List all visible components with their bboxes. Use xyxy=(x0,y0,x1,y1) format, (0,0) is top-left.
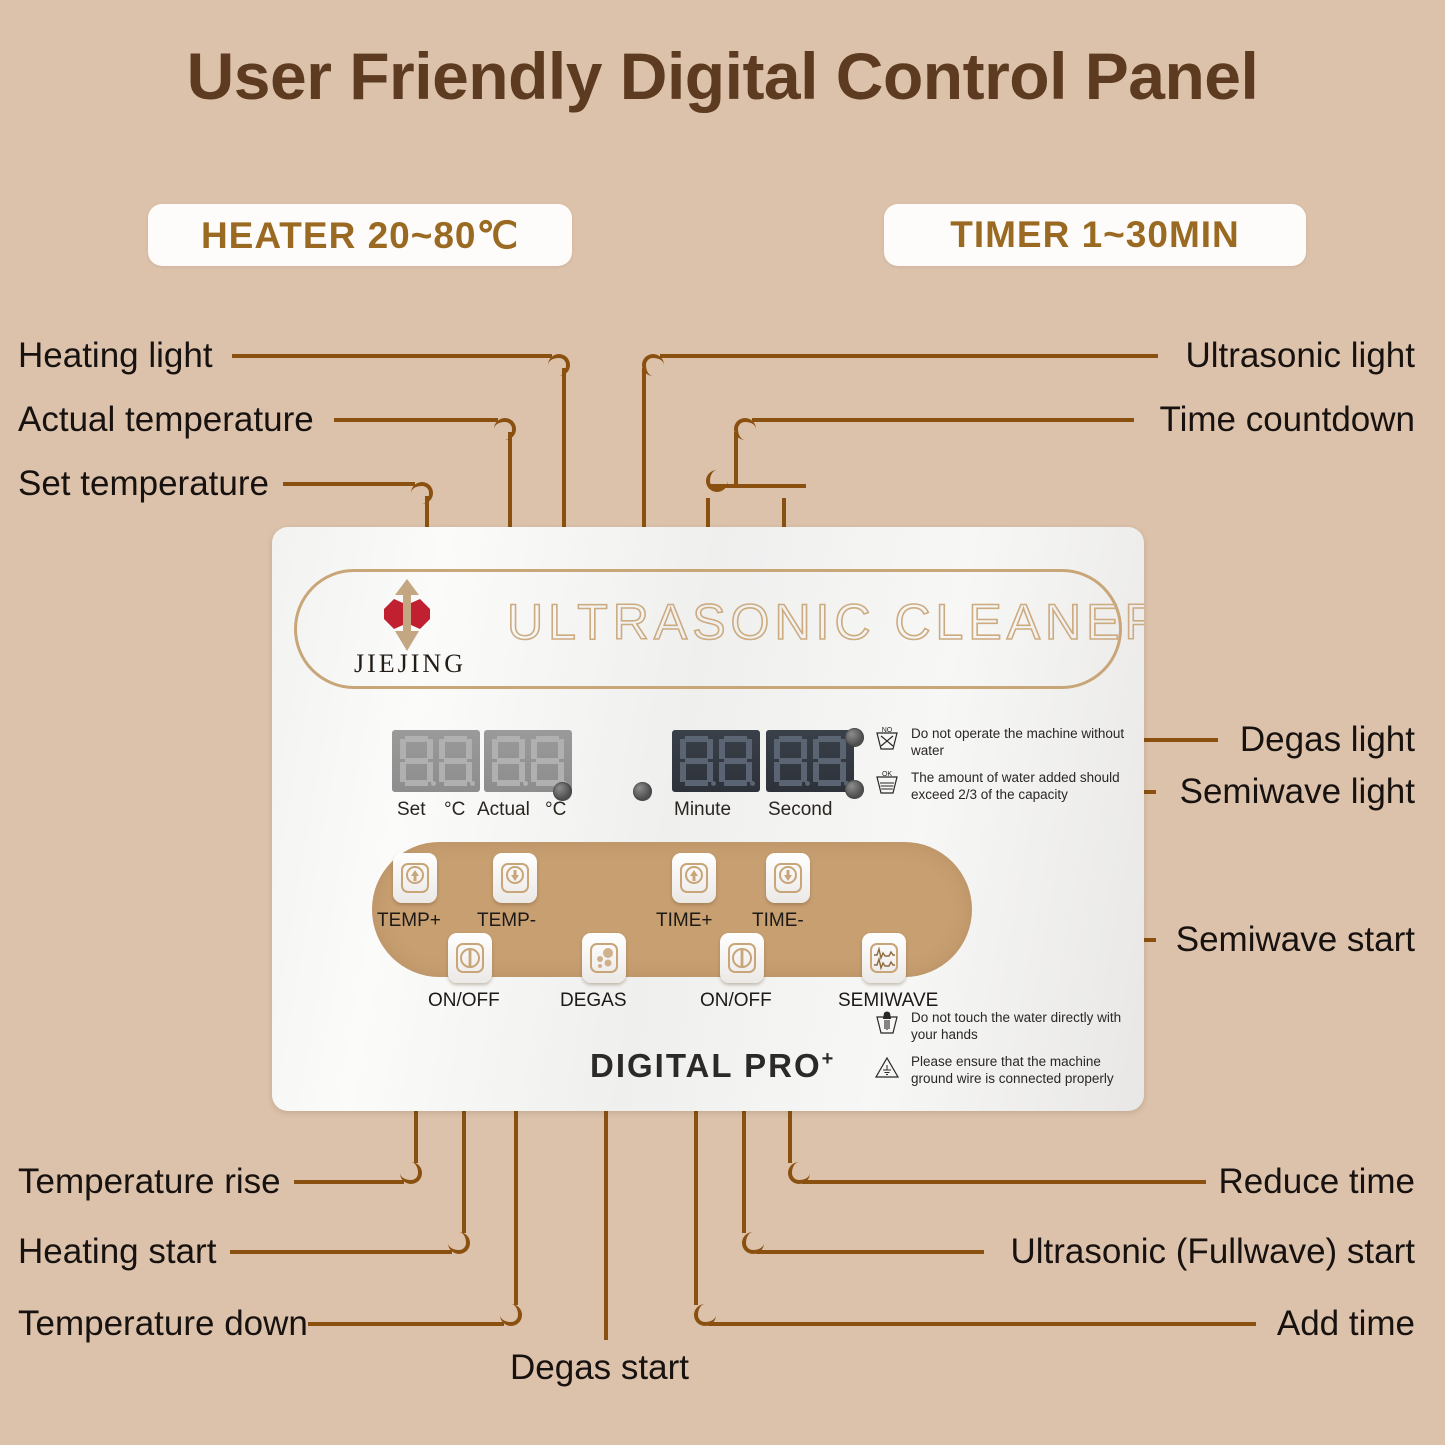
heating-indicator-light xyxy=(553,782,572,801)
time-down-label: TIME- xyxy=(752,910,804,932)
ultrasonic-onoff-label: ON/OFF xyxy=(700,990,772,1012)
set-temperature-caption: Set xyxy=(397,799,426,821)
ultrasonic-indicator-light xyxy=(633,782,652,801)
actual-temperature-caption: Actual xyxy=(477,799,530,821)
no-hand-in-water-icon xyxy=(872,1009,902,1035)
timer-spec-label: TIMER 1~30MIN xyxy=(950,214,1240,256)
temp-up-label: TEMP+ xyxy=(377,910,441,932)
warning-row: Please ensure that the machine ground wi… xyxy=(872,1053,1144,1088)
control-panel: JIEJING ULTRASONIC CLEANER Set °C Actual… xyxy=(272,527,1144,1111)
leader-temp-down-corner xyxy=(500,1304,522,1326)
temp-up-button[interactable] xyxy=(393,853,437,903)
digit xyxy=(400,736,433,786)
heater-spec-badge: HEATER 20~80℃ xyxy=(148,204,572,266)
power-circle-icon xyxy=(726,942,758,974)
leader-fullwave-h xyxy=(756,1250,984,1254)
arrow-up-circle-icon xyxy=(399,862,431,894)
heater-onoff-label: ON/OFF xyxy=(428,990,500,1012)
leader-set-temp-h xyxy=(283,482,415,486)
callout-temperature-down: Temperature down xyxy=(18,1306,308,1341)
degas-button[interactable] xyxy=(582,933,626,983)
ground-wire-warning-icon xyxy=(872,1053,902,1079)
leader-temp-rise-h xyxy=(294,1180,404,1184)
callout-degas-light: Degas light xyxy=(1240,722,1415,757)
leader-reduce-time-h xyxy=(802,1180,1206,1184)
heater-onoff-button[interactable] xyxy=(448,933,492,983)
second-display xyxy=(766,730,854,792)
warning-row: OK The amount of water added should exce… xyxy=(872,769,1144,804)
page-title: User Friendly Digital Control Panel xyxy=(0,38,1445,114)
leader-set-temp-corner xyxy=(411,482,433,504)
warning-row: NO Do not operate the machine without wa… xyxy=(872,725,1144,760)
model-name-superscript: + xyxy=(822,1048,836,1070)
callout-reduce-time: Reduce time xyxy=(1219,1164,1415,1199)
callout-ultrasonic-light: Ultrasonic light xyxy=(1185,338,1415,373)
digit xyxy=(531,736,564,786)
ultrasonic-onoff-button[interactable] xyxy=(720,933,764,983)
callout-semiwave-light: Semiwave light xyxy=(1180,774,1415,809)
leader-ultrasonic-light-h xyxy=(660,354,1158,358)
time-up-button[interactable] xyxy=(672,853,716,903)
callout-degas-start: Degas start xyxy=(510,1350,689,1385)
semiwave-label: SEMIWAVE xyxy=(838,990,938,1012)
bubbles-icon xyxy=(588,942,620,974)
callout-ultrasonic-fullwave-start: Ultrasonic (Fullwave) start xyxy=(1010,1234,1415,1269)
callout-time-countdown: Time countdown xyxy=(1160,402,1416,437)
leader-time-split-corner-l xyxy=(706,470,728,492)
leader-time-countdown-v xyxy=(734,432,738,484)
brand-name: JIEJING xyxy=(354,649,466,679)
leader-time-countdown-h xyxy=(752,418,1134,422)
semiwave-indicator-light xyxy=(845,780,864,799)
warnings-top: NO Do not operate the machine without wa… xyxy=(872,725,1144,812)
arrow-down-circle-icon xyxy=(499,862,531,894)
warnings-bottom: Do not touch the water directly with you… xyxy=(872,1009,1144,1096)
warning-text: Please ensure that the machine ground wi… xyxy=(911,1053,1144,1088)
minute-display xyxy=(672,730,760,792)
leader-actual-temp-h xyxy=(334,418,498,422)
warning-text: Do not touch the water directly with you… xyxy=(911,1009,1144,1044)
actual-temperature-unit: °C xyxy=(545,799,566,821)
second-caption: Second xyxy=(768,799,832,821)
waveform-icon xyxy=(868,942,900,974)
arrow-up-circle-icon xyxy=(678,862,710,894)
panel-wordmark: ULTRASONIC CLEANER xyxy=(507,593,1144,651)
set-temperature-display xyxy=(392,730,480,792)
model-name-text: DIGITAL PRO xyxy=(590,1047,822,1084)
jiejing-logo-icon xyxy=(370,577,444,655)
callout-semiwave-start: Semiwave start xyxy=(1176,922,1415,957)
minute-caption: Minute xyxy=(674,799,731,821)
leader-temp-down-h xyxy=(308,1322,504,1326)
timer-spec-badge: TIMER 1~30MIN xyxy=(884,204,1306,266)
leader-heating-start-h xyxy=(230,1250,452,1254)
power-circle-icon xyxy=(454,942,486,974)
callout-add-time: Add time xyxy=(1277,1306,1415,1341)
temp-down-label: TEMP- xyxy=(477,910,536,932)
warning-text: Do not operate the machine without water xyxy=(911,725,1144,760)
temp-down-button[interactable] xyxy=(493,853,537,903)
ok-water-level-icon: OK xyxy=(872,769,902,795)
callout-heating-start: Heating start xyxy=(18,1234,216,1269)
callout-set-temperature: Set temperature xyxy=(18,466,269,501)
digit xyxy=(680,736,713,786)
time-down-button[interactable] xyxy=(766,853,810,903)
digit xyxy=(813,736,846,786)
digit xyxy=(774,736,807,786)
leader-heating-light-h xyxy=(232,354,552,358)
set-temperature-unit: °C xyxy=(444,799,465,821)
arrow-down-circle-icon xyxy=(772,862,804,894)
time-up-label: TIME+ xyxy=(656,910,712,932)
warning-row: Do not touch the water directly with you… xyxy=(872,1009,1144,1044)
degas-indicator-light xyxy=(845,728,864,747)
heater-spec-label: HEATER 20~80℃ xyxy=(201,214,519,257)
model-name: DIGITAL PRO+ xyxy=(590,1047,835,1085)
infographic-stage: User Friendly Digital Control Panel HEAT… xyxy=(0,0,1445,1445)
callout-actual-temperature: Actual temperature xyxy=(18,402,314,437)
warning-text: The amount of water added should exceed … xyxy=(911,769,1144,804)
leader-heating-start-corner xyxy=(448,1232,470,1254)
no-water-tank-icon: NO xyxy=(872,725,902,751)
callout-heating-light: Heating light xyxy=(18,338,213,373)
digit xyxy=(719,736,752,786)
leader-temp-rise-corner xyxy=(400,1162,422,1184)
semiwave-button[interactable] xyxy=(862,933,906,983)
digit xyxy=(439,736,472,786)
leader-add-time-h xyxy=(708,1322,1256,1326)
degas-label: DEGAS xyxy=(560,990,627,1012)
leader-actual-temp-corner xyxy=(494,418,516,440)
leader-heating-light-corner xyxy=(548,354,570,376)
digit xyxy=(492,736,525,786)
callout-temperature-rise: Temperature rise xyxy=(18,1164,281,1199)
